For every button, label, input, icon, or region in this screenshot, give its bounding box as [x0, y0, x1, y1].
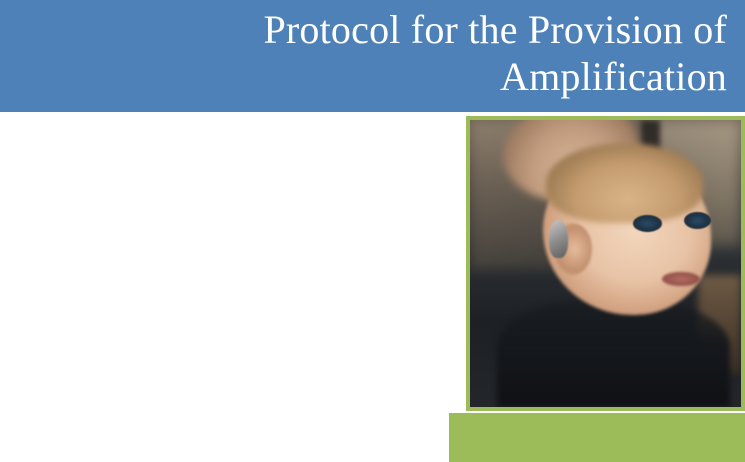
slide-title: Protocol for the Provision of Amplificat… — [107, 6, 727, 100]
slide-content-area — [0, 112, 449, 462]
photo-infant-body — [497, 298, 730, 407]
presentation-slide: Protocol for the Provision of Amplificat… — [0, 0, 745, 462]
slide-title-line-2: Amplification — [500, 54, 727, 99]
photo-infant-eye-left — [633, 215, 663, 232]
photo-infant-eye-right — [684, 212, 711, 229]
infant-hearing-aid-photo — [470, 120, 741, 407]
slide-title-line-1: Protocol for the Provision of — [263, 7, 727, 52]
photo-frame — [466, 116, 745, 411]
title-banner: Protocol for the Provision of Amplificat… — [0, 0, 745, 112]
photo-infant-hair — [546, 143, 703, 223]
hearing-aid-icon — [549, 220, 568, 257]
